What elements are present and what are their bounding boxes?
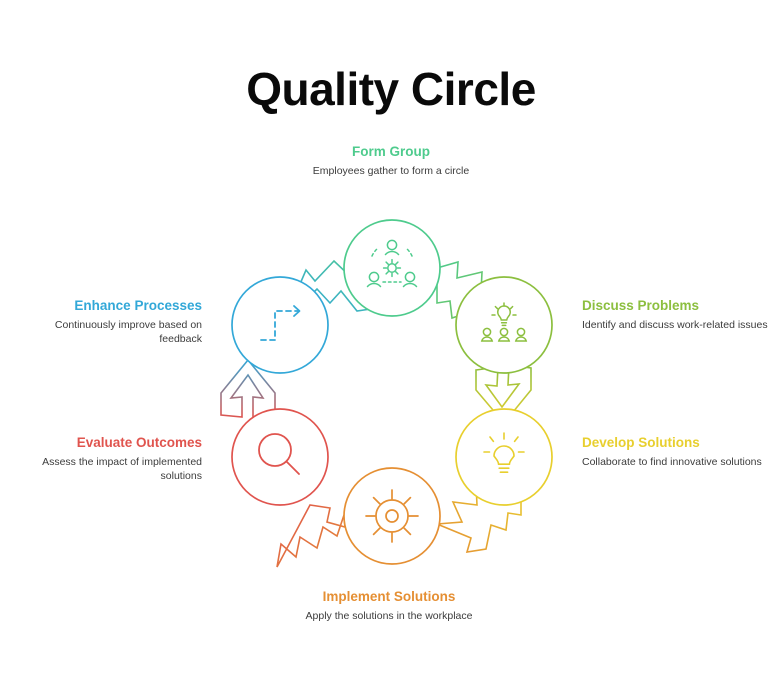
node-circle-form-group[interactable]	[344, 220, 440, 316]
label-block-form-group: Form Group Employees gather to form a ci…	[301, 143, 481, 179]
label-desc-evaluate-outcomes: Assess the impact of implemented solutio…	[22, 456, 202, 483]
label-desc-implement-solutions: Apply the solutions in the workplace	[299, 610, 479, 624]
label-block-implement-solutions: Implement Solutions Apply the solutions …	[299, 588, 479, 624]
label-title-enhance-processes: Enhance Processes	[22, 297, 202, 314]
label-block-discuss-problems: Discuss Problems Identify and discuss wo…	[582, 297, 772, 333]
node-circle-evaluate-outcomes[interactable]	[232, 409, 328, 505]
arrow-implement-to-evaluate	[277, 505, 345, 567]
label-block-evaluate-outcomes: Evaluate Outcomes Assess the impact of i…	[22, 434, 202, 483]
node-circle-implement-solutions[interactable]	[344, 468, 440, 564]
label-title-form-group: Form Group	[301, 143, 481, 160]
label-title-discuss-problems: Discuss Problems	[582, 297, 772, 314]
label-block-develop-solutions: Develop Solutions Collaborate to find in…	[582, 434, 772, 470]
label-desc-enhance-processes: Continuously improve based on feedback	[22, 319, 202, 346]
label-title-implement-solutions: Implement Solutions	[299, 588, 479, 605]
label-title-evaluate-outcomes: Evaluate Outcomes	[22, 434, 202, 451]
node-circle-enhance-processes[interactable]	[232, 277, 328, 373]
node-circle-develop-solutions[interactable]	[456, 409, 552, 505]
label-block-enhance-processes: Enhance Processes Continuously improve b…	[22, 297, 202, 346]
label-desc-develop-solutions: Collaborate to find innovative solutions	[582, 456, 772, 470]
label-desc-discuss-problems: Identify and discuss work-related issues	[582, 319, 772, 333]
label-desc-form-group: Employees gather to form a circle	[301, 165, 481, 179]
label-title-develop-solutions: Develop Solutions	[582, 434, 772, 451]
